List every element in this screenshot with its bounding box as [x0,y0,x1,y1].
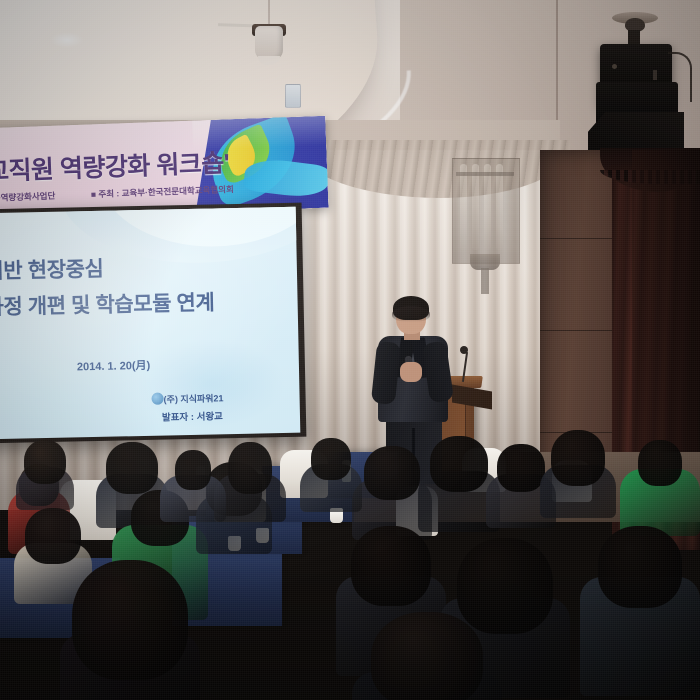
projector-highlight-2 [653,70,657,80]
person-cream-scarf-head [25,508,81,564]
wall-control-plate [285,84,301,108]
audience [0,430,700,700]
person-glasses-left [16,440,74,510]
podium-microphone-icon [460,346,468,354]
presenter-hands [400,362,422,382]
slide-title-line1-text: 기반 현장중심 [0,258,104,283]
slide-title-line2: 육과정 개편 및 학습모듈 연계 [0,285,300,322]
person-front-curly-head [371,612,483,700]
chandelier-crystal [484,164,491,250]
slide-title-line1: S기반 현장중심 [0,249,300,286]
projector-highlight [612,64,617,69]
chandelier-crossbar [456,172,514,176]
presenter-hair-side [392,306,430,322]
projection-screen: S기반 현장중심 육과정 개편 및 학습모듈 연계 2014. 1. 20(月)… [0,207,300,440]
person-gray-suit-head [175,450,211,490]
person-far-right-green [620,440,700,536]
slide-company-name: (주) 지식파워21 [163,391,223,405]
ceiling-spotlight-icon [255,26,283,60]
slide-date: 2014. 1. 20(月) [77,357,151,375]
person-right-ponytail [540,430,616,518]
chandelier-stem [481,268,489,294]
person-right-b-head [430,436,488,492]
chandelier-crystal [472,164,479,250]
projector-cable [668,52,692,102]
ceiling-highlight [50,32,84,48]
person-mid-back-head [311,438,351,480]
person-front-curly [352,612,502,700]
person-far-right-green-head [638,440,682,486]
person-dark-suit-a-head [106,442,158,494]
chandelier-crystal [496,164,503,250]
person-right-c-head [497,444,545,492]
person-front-left-dark-head [351,526,431,606]
person-long-hair-front [60,560,200,700]
person-woman-dark-top-head [228,442,272,494]
crystal-chandelier [452,158,518,268]
person-mid-back [300,438,362,512]
person-right-a-head [364,446,420,500]
person-long-hair-front-head [72,560,188,680]
slide-presenter-name: 발표자 : 서왕교 [162,408,223,423]
chandelier-crystal [460,164,467,250]
person-right-ponytail-head [551,430,605,486]
person-right-front-head [598,526,682,608]
person-right-front [580,526,700,696]
person-glasses-left-head [24,440,66,484]
conference-photo: 딱! 교직원 역량강화 워크숍' 교육역량강화사업단 ■ 주최 : 교육부·한국… [0,0,700,700]
person-gray-suit [160,450,226,522]
